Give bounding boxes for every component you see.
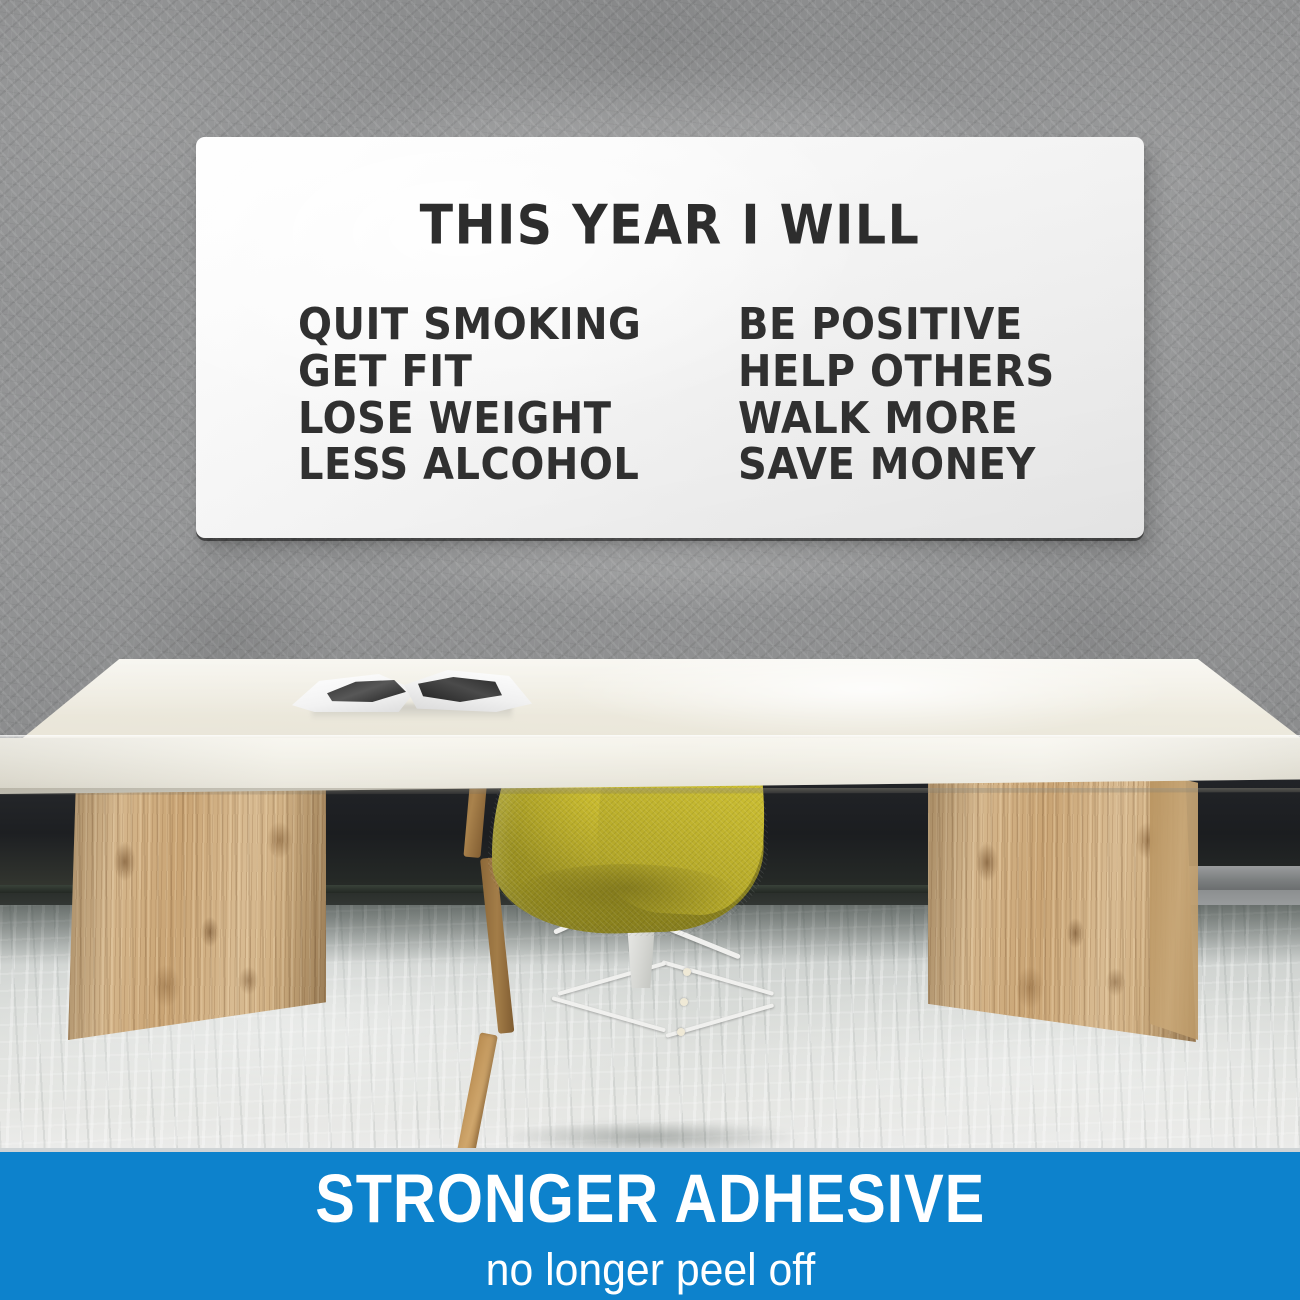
- banner-headline: STRONGER ADHESIVE: [315, 1163, 985, 1232]
- whiteboard-panel[interactable]: THIS YEAR I WILL QUIT SMOKING GET FIT LO…: [196, 137, 1144, 538]
- chair-brace-front-left: [551, 996, 666, 1032]
- resolution-item: LESS ALCOHOL: [298, 441, 628, 492]
- resolution-item: WALK MORE: [738, 394, 1058, 445]
- open-magazine: [292, 660, 532, 718]
- desk-leg-left: [68, 770, 326, 1040]
- product-scene: THIS YEAR I WILL QUIT SMOKING GET FIT LO…: [0, 0, 1300, 1300]
- resolution-item: HELP OTHERS: [738, 347, 1058, 398]
- desk-top-sheen: [0, 659, 1300, 741]
- banner-subheadline: no longer peel off: [485, 1247, 815, 1292]
- chair-leg-stud: [677, 1028, 685, 1036]
- whiteboard-content: THIS YEAR I WILL QUIT SMOKING GET FIT LO…: [196, 137, 1144, 538]
- chair-brace-rear-right: [661, 960, 774, 996]
- resolution-item: QUIT SMOKING: [298, 300, 628, 351]
- resolution-item: GET FIT: [298, 347, 628, 398]
- promo-banner: STRONGER ADHESIVE no longer peel off: [0, 1152, 1300, 1300]
- resolution-column-right: BE POSITIVE HELP OTHERS WALK MORE SAVE M…: [738, 302, 1058, 489]
- resolution-columns: QUIT SMOKING GET FIT LOSE WEIGHT LESS AL…: [196, 302, 1144, 489]
- resolution-column-left: QUIT SMOKING GET FIT LOSE WEIGHT LESS AL…: [298, 302, 628, 489]
- wood-shading: [68, 770, 326, 1040]
- desk-leg-right-side-face: [1150, 772, 1198, 1040]
- resolution-item: LOSE WEIGHT: [298, 394, 628, 445]
- resolution-item: BE POSITIVE: [738, 300, 1058, 351]
- whiteboard-title: THIS YEAR I WILL: [420, 194, 921, 257]
- chair-leg-stud: [680, 998, 688, 1006]
- chair-seat-shadow: [516, 864, 736, 924]
- chair-leg-stud: [683, 968, 691, 976]
- resolution-item: SAVE MONEY: [738, 441, 1058, 492]
